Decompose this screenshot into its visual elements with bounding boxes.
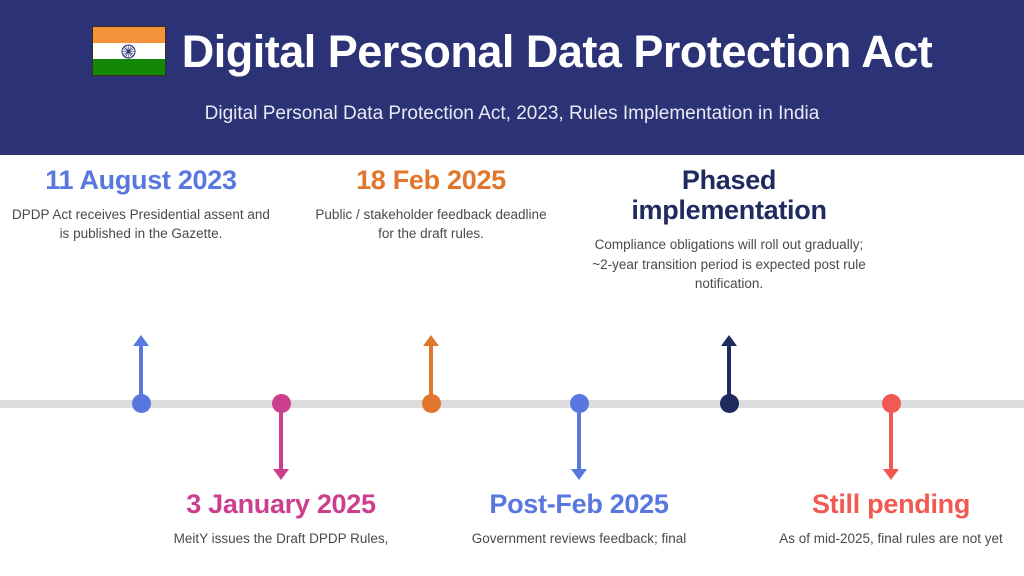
- timeline-marker-phased-implementation[interactable]: [720, 394, 739, 413]
- event-connector-stem: [279, 409, 283, 472]
- event-date-label: Still pending: [746, 489, 1024, 519]
- page-title: Digital Personal Data Protection Act: [182, 29, 933, 74]
- event-description: Compliance obligations will roll out gra…: [584, 235, 874, 292]
- event-date-label: 3 January 2025: [147, 489, 415, 519]
- india-flag-icon: [92, 26, 166, 76]
- timeline: 11 August 2023DPDP Act receives Presiden…: [0, 155, 1024, 576]
- ashoka-chakra-icon: [121, 44, 136, 59]
- event-date-label: Phased implementation: [584, 165, 874, 225]
- timeline-event-government-review: Post-Feb 2025Government reviews feedback…: [445, 489, 713, 548]
- event-connector-stem: [577, 409, 581, 472]
- arrow-down-icon: [571, 469, 587, 480]
- header-title-row: Digital Personal Data Protection Act: [0, 16, 1024, 86]
- arrow-up-icon: [423, 335, 439, 346]
- timeline-marker-draft-rules[interactable]: [272, 394, 291, 413]
- timeline-event-feedback-deadline: 18 Feb 2025Public / stakeholder feedback…: [306, 165, 556, 244]
- timeline-marker-presidential-assent[interactable]: [132, 394, 151, 413]
- arrow-down-icon: [273, 469, 289, 480]
- timeline-marker-feedback-deadline[interactable]: [422, 394, 441, 413]
- page-subtitle: Digital Personal Data Protection Act, 20…: [0, 103, 1024, 125]
- timeline-event-draft-rules: 3 January 2025MeitY issues the Draft DPD…: [147, 489, 415, 548]
- arrow-down-icon: [883, 469, 899, 480]
- event-description: MeitY issues the Draft DPDP Rules,: [147, 529, 415, 548]
- event-description: Public / stakeholder feedback deadline f…: [306, 205, 556, 243]
- timeline-event-phased-implementation: Phased implementationCompliance obligati…: [584, 165, 874, 293]
- flag-green-band: [93, 59, 165, 75]
- event-description: As of mid-2025, final rules are not yet: [746, 529, 1024, 548]
- event-date-label: 18 Feb 2025: [306, 165, 556, 195]
- timeline-marker-still-pending[interactable]: [882, 394, 901, 413]
- event-description: Government reviews feedback; final: [445, 529, 713, 548]
- flag-saffron-band: [93, 27, 165, 43]
- event-description: DPDP Act receives Presidential assent an…: [7, 205, 275, 243]
- timeline-marker-government-review[interactable]: [570, 394, 589, 413]
- arrow-up-icon: [133, 335, 149, 346]
- event-connector-stem: [429, 343, 433, 399]
- event-date-label: Post-Feb 2025: [445, 489, 713, 519]
- timeline-event-still-pending: Still pendingAs of mid-2025, final rules…: [746, 489, 1024, 548]
- page-header: Digital Personal Data Protection Act Dig…: [0, 0, 1024, 155]
- arrow-up-icon: [721, 335, 737, 346]
- event-connector-stem: [889, 409, 893, 472]
- timeline-axis: [0, 400, 1024, 408]
- event-date-label: 11 August 2023: [7, 165, 275, 195]
- event-connector-stem: [727, 343, 731, 399]
- timeline-event-presidential-assent: 11 August 2023DPDP Act receives Presiden…: [7, 165, 275, 244]
- event-connector-stem: [139, 343, 143, 399]
